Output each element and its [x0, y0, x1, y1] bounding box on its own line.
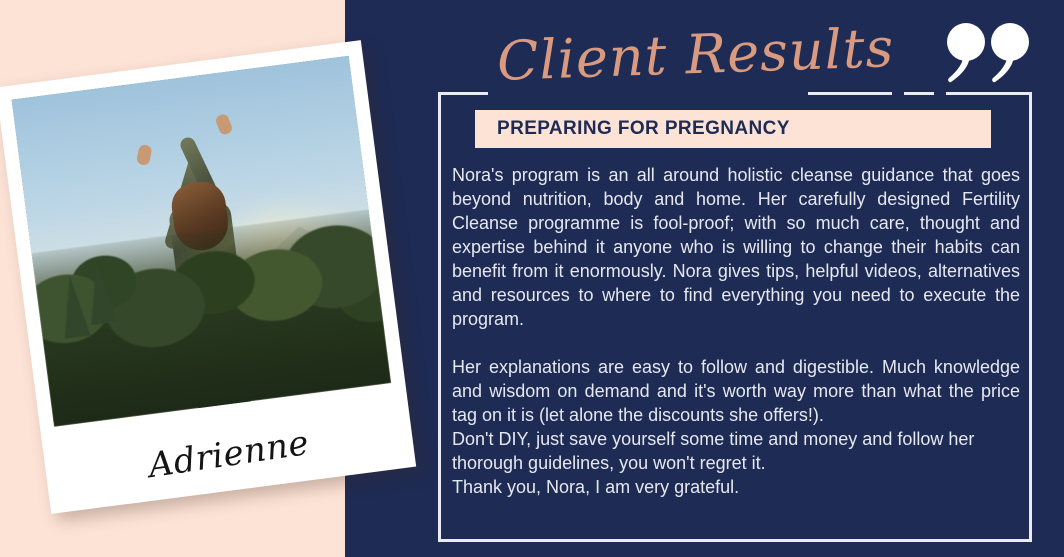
frame-bottom-border	[438, 539, 1032, 542]
frame-left-border	[438, 92, 441, 542]
frame-right-border	[1029, 92, 1032, 542]
quotation-mark-icon	[947, 22, 1033, 84]
polaroid-frame: Adrienne	[0, 40, 416, 514]
testimonial-paragraph-2: Her explanations are easy to follow and …	[452, 355, 1020, 427]
frame-top-border-segment	[808, 92, 892, 95]
section-banner-label: PREPARING FOR PREGNANCY	[475, 118, 790, 140]
testimonial-graphic: Adrienne Client Results PREPARING FOR PR…	[0, 0, 1064, 557]
right-hand	[214, 113, 233, 136]
section-banner: PREPARING FOR PREGNANCY	[475, 110, 991, 148]
paragraph-spacer	[452, 331, 1020, 355]
testimonial-text-block: Nora's program is an all around holistic…	[452, 163, 1020, 499]
frame-top-border-segment	[904, 92, 934, 95]
left-hand	[136, 144, 152, 166]
testimonial-paragraph-4: Thank you, Nora, I am very grateful.	[452, 475, 1020, 499]
frame-top-border-segment	[946, 92, 1032, 95]
client-photo	[12, 56, 392, 427]
testimonial-paragraph-3: Don't DIY, just save yourself some time …	[452, 427, 1020, 475]
polaroid-card: Adrienne	[0, 40, 416, 514]
frame-top-border-segment	[438, 92, 488, 95]
script-heading: Client Results	[496, 21, 895, 89]
client-signature: Adrienne	[146, 423, 312, 486]
testimonial-paragraph-1: Nora's program is an all around holistic…	[452, 163, 1020, 331]
